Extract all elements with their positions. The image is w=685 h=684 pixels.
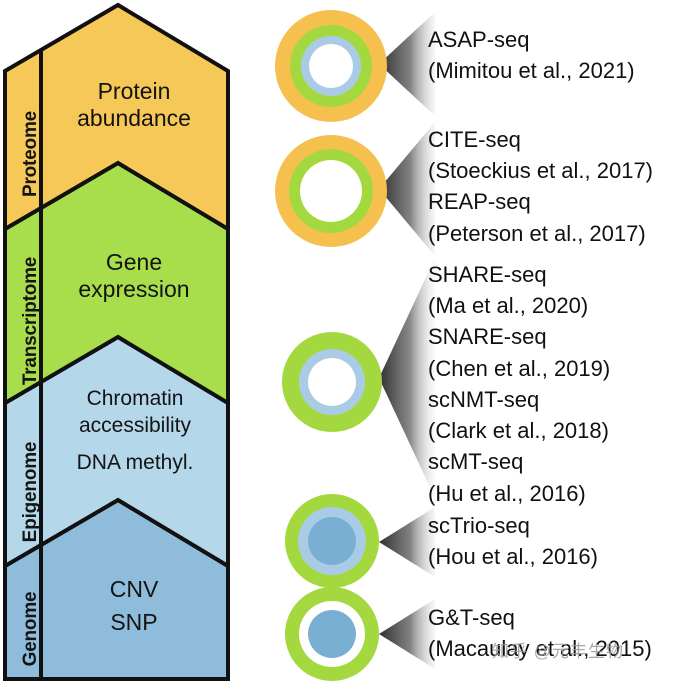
citation-reference: (Hou et al., 2016)	[428, 541, 598, 572]
omics-pyramid: Proteome Transcriptome Epigenome Genome …	[0, 0, 240, 684]
citation-name: scMT-seq	[428, 446, 610, 477]
citation-block-share-group: SHARE-seq (Ma et al., 2020) SNARE-seq (C…	[428, 259, 610, 509]
ring-center-white	[309, 44, 353, 88]
citation-block-asap-seq: ASAP-seq (Mimitou et al., 2021)	[428, 24, 635, 86]
pyramid-content-genome-line-1: CNV	[48, 573, 220, 606]
citation-reference: (Chen et al., 2019)	[428, 353, 610, 384]
citation-name: G&T-seq	[428, 602, 652, 633]
ring-center-blue	[308, 517, 356, 565]
citation-reference: (Macaulay et al., 2015)	[428, 633, 652, 664]
pyramid-content-epigenome: Chromatin accessibility DNA methyl.	[44, 386, 226, 477]
citation-block-gt-seq: G&T-seq (Macaulay et al., 2015)	[428, 602, 652, 664]
citation-name: scNMT-seq	[428, 384, 610, 415]
citation-reference: (Clark et al., 2018)	[428, 415, 610, 446]
ring-diagram-share-group	[280, 330, 384, 434]
ring-center-blue	[308, 610, 356, 658]
pyramid-content-genome-line-2: SNP	[48, 606, 220, 639]
pyramid-content-transcriptome: Gene expression	[48, 249, 220, 303]
ring-center-white	[308, 358, 356, 406]
pyramid-content-epigenome-line-1: Chromatin	[44, 386, 226, 413]
pyramid-content-transcriptome-line-2: expression	[48, 276, 220, 303]
pyramid-content-proteome-line-2: abundance	[48, 105, 220, 132]
ring-diagram-gt-seq	[283, 585, 381, 683]
citation-reference: (Hu et al., 2016)	[428, 478, 610, 509]
pyramid-content-epigenome-line-3: DNA methyl.	[44, 450, 226, 477]
citation-reference: (Peterson et al., 2017)	[428, 218, 653, 249]
citation-name: scTrio-seq	[428, 510, 598, 541]
ring-diagram-asap-seq	[273, 8, 389, 124]
citation-name: REAP-seq	[428, 186, 653, 217]
citation-block-cite-reap-seq: CITE-seq (Stoeckius et al., 2017) REAP-s…	[428, 124, 653, 249]
citation-reference: (Mimitou et al., 2021)	[428, 55, 635, 86]
pyramid-content-genome: CNV SNP	[48, 573, 220, 640]
citation-block-sctrio-seq: scTrio-seq (Hou et al., 2016)	[428, 510, 598, 572]
pyramid-content-proteome-line-1: Protein	[48, 78, 220, 105]
citation-name: CITE-seq	[428, 124, 653, 155]
pyramid-content-epigenome-line-2: accessibility	[44, 413, 226, 440]
pyramid-content-transcriptome-line-1: Gene	[48, 249, 220, 276]
citation-name: SNARE-seq	[428, 321, 610, 352]
citation-reference: (Ma et al., 2020)	[428, 290, 610, 321]
ring-diagram-sctrio-seq	[283, 492, 381, 590]
citation-reference: (Stoeckius et al., 2017)	[428, 155, 653, 186]
ring-center-white	[300, 160, 362, 222]
figure-canvas: Proteome Transcriptome Epigenome Genome …	[0, 0, 685, 684]
ring-diagram-cite-reap-seq	[273, 133, 389, 249]
pyramid-content-proteome: Protein abundance	[48, 78, 220, 132]
citation-name: SHARE-seq	[428, 259, 610, 290]
citation-name: ASAP-seq	[428, 24, 635, 55]
